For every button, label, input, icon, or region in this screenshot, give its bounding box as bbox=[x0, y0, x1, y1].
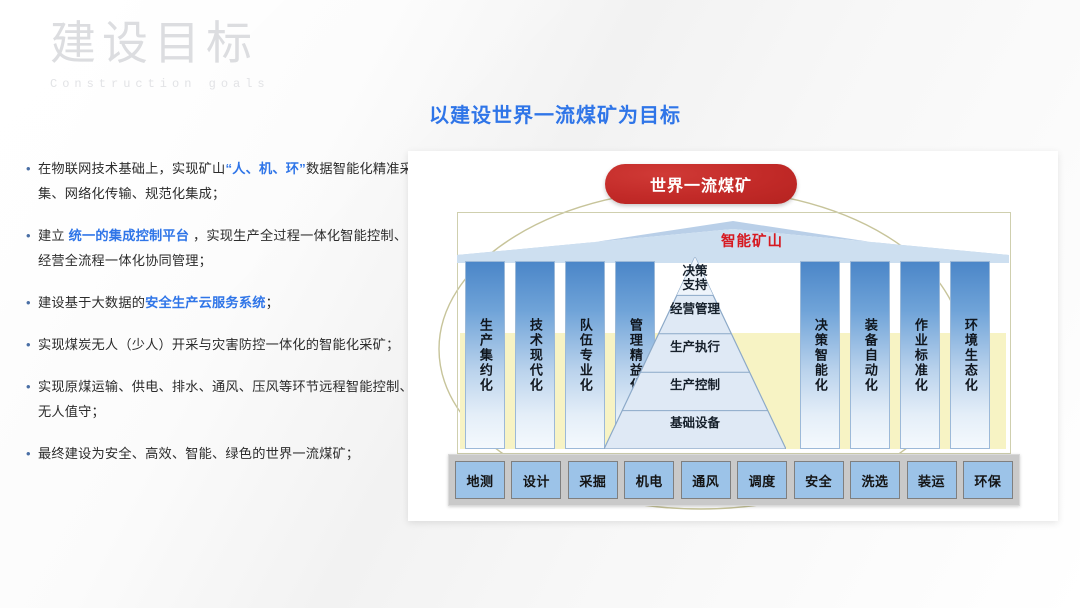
bullet-marker-icon: • bbox=[26, 156, 38, 206]
pyramid-layer-1[interactable]: 决策支持 bbox=[604, 265, 786, 292]
pyramid-layer-3[interactable]: 生产执行 bbox=[604, 341, 786, 355]
bullet-highlight: 统一的集成控制平台 bbox=[69, 228, 190, 243]
pillar-right-1[interactable]: 决策智能化 bbox=[800, 261, 840, 449]
function-tag[interactable]: 装运 bbox=[907, 461, 957, 499]
function-tag[interactable]: 通风 bbox=[681, 461, 731, 499]
bullet-text: 建立 统一的集成控制平台 ，实现生产全过程一体化智能控制、经营全流程一体化协同管… bbox=[38, 223, 416, 273]
pillar-left-2[interactable]: 技术现代化 bbox=[515, 261, 555, 449]
watermark-heading: 建设目标 Construction goals bbox=[50, 18, 270, 91]
bullet-item: •最终建设为安全、高效、智能、绿色的世界一流煤矿； bbox=[26, 441, 416, 466]
bullet-marker-icon: • bbox=[26, 332, 38, 357]
bullet-plain: 建立 bbox=[38, 228, 69, 243]
function-tag[interactable]: 采掘 bbox=[568, 461, 618, 499]
roof-label: 智能矿山 bbox=[408, 230, 1058, 251]
watermark-title: 建设目标 bbox=[50, 18, 270, 71]
function-tag[interactable]: 调度 bbox=[737, 461, 787, 499]
roof-label-text: 智能矿山 bbox=[683, 230, 783, 251]
bullet-item: •在物联网技术基础上，实现矿山“人、机、环”数据智能化精准采集、网络化传输、规范… bbox=[26, 156, 416, 206]
bullet-item: •实现原煤运输、供电、排水、通风、压风等环节远程智能控制、无人值守； bbox=[26, 374, 416, 424]
bullet-marker-icon: • bbox=[26, 223, 38, 273]
bullet-plain: ； bbox=[266, 295, 279, 310]
bullet-marker-icon: • bbox=[26, 441, 38, 466]
bullet-plain: 最终建设为安全、高效、智能、绿色的世界一流煤矿； bbox=[38, 446, 359, 461]
page-title-text: 以建设世界一流煤矿为目标 bbox=[399, 99, 681, 128]
bullet-plain: 在物联网技术基础上，实现矿山 bbox=[38, 161, 225, 176]
diagram-panel: 世界一流煤矿 智能矿山 生产集约化技术现代化队伍专业化管理精益化决策智能化装备自… bbox=[408, 151, 1058, 521]
function-tag[interactable]: 机电 bbox=[624, 461, 674, 499]
watermark-subtitle: Construction goals bbox=[50, 77, 270, 91]
bullet-plain: 实现煤炭无人（少人）开采与灾害防控一体化的智能化采矿； bbox=[38, 337, 399, 352]
pyramid-layer-4[interactable]: 生产控制 bbox=[604, 379, 786, 393]
pillar-right-2[interactable]: 装备自动化 bbox=[850, 261, 890, 449]
bullet-text: 实现煤炭无人（少人）开采与灾害防控一体化的智能化采矿； bbox=[38, 332, 399, 357]
function-tag[interactable]: 安全 bbox=[794, 461, 844, 499]
pillar-left-3[interactable]: 队伍专业化 bbox=[565, 261, 605, 449]
pyramid-layer-2[interactable]: 经营管理 bbox=[604, 303, 786, 317]
bullet-text: 建设基于大数据的安全生产云服务系统； bbox=[38, 290, 279, 315]
pillar-right-3[interactable]: 作业标准化 bbox=[900, 261, 940, 449]
top-banner: 世界一流煤矿 bbox=[605, 164, 797, 204]
bullet-highlight: 安全生产云服务系统 bbox=[145, 295, 266, 310]
bullet-plain: 建设基于大数据的 bbox=[38, 295, 145, 310]
function-tag[interactable]: 环保 bbox=[963, 461, 1013, 499]
function-tag-bar: 地测设计采掘机电通风调度安全洗选装运环保 bbox=[448, 454, 1020, 506]
bullet-plain: 实现原煤运输、供电、排水、通风、压风等环节远程智能控制、无人值守； bbox=[38, 379, 413, 419]
pyramid-layer-5[interactable]: 基础设备 bbox=[604, 417, 786, 431]
top-banner-label: 世界一流煤矿 bbox=[650, 172, 752, 196]
bullet-highlight: “人、机、环” bbox=[225, 161, 306, 176]
pillar-left-1[interactable]: 生产集约化 bbox=[465, 261, 505, 449]
bullet-text: 最终建设为安全、高效、智能、绿色的世界一流煤矿； bbox=[38, 441, 359, 466]
bullet-list: •在物联网技术基础上，实现矿山“人、机、环”数据智能化精准采集、网络化传输、规范… bbox=[26, 156, 416, 483]
maturity-pyramid: 决策支持经营管理生产执行生产控制基础设备 bbox=[604, 257, 786, 449]
bullet-text: 在物联网技术基础上，实现矿山“人、机、环”数据智能化精准采集、网络化传输、规范化… bbox=[38, 156, 416, 206]
bullet-item: •建设基于大数据的安全生产云服务系统； bbox=[26, 290, 416, 315]
pillar-right-4[interactable]: 环境生态化 bbox=[950, 261, 990, 449]
function-tag[interactable]: 洗选 bbox=[850, 461, 900, 499]
bullet-marker-icon: • bbox=[26, 374, 38, 424]
page-title: 以建设世界一流煤矿为目标 bbox=[0, 99, 1080, 128]
bullet-text: 实现原煤运输、供电、排水、通风、压风等环节远程智能控制、无人值守； bbox=[38, 374, 416, 424]
function-tag[interactable]: 地测 bbox=[455, 461, 505, 499]
bullet-item: •实现煤炭无人（少人）开采与灾害防控一体化的智能化采矿； bbox=[26, 332, 416, 357]
function-tag[interactable]: 设计 bbox=[511, 461, 561, 499]
bullet-marker-icon: • bbox=[26, 290, 38, 315]
bullet-item: •建立 统一的集成控制平台 ，实现生产全过程一体化智能控制、经营全流程一体化协同… bbox=[26, 223, 416, 273]
